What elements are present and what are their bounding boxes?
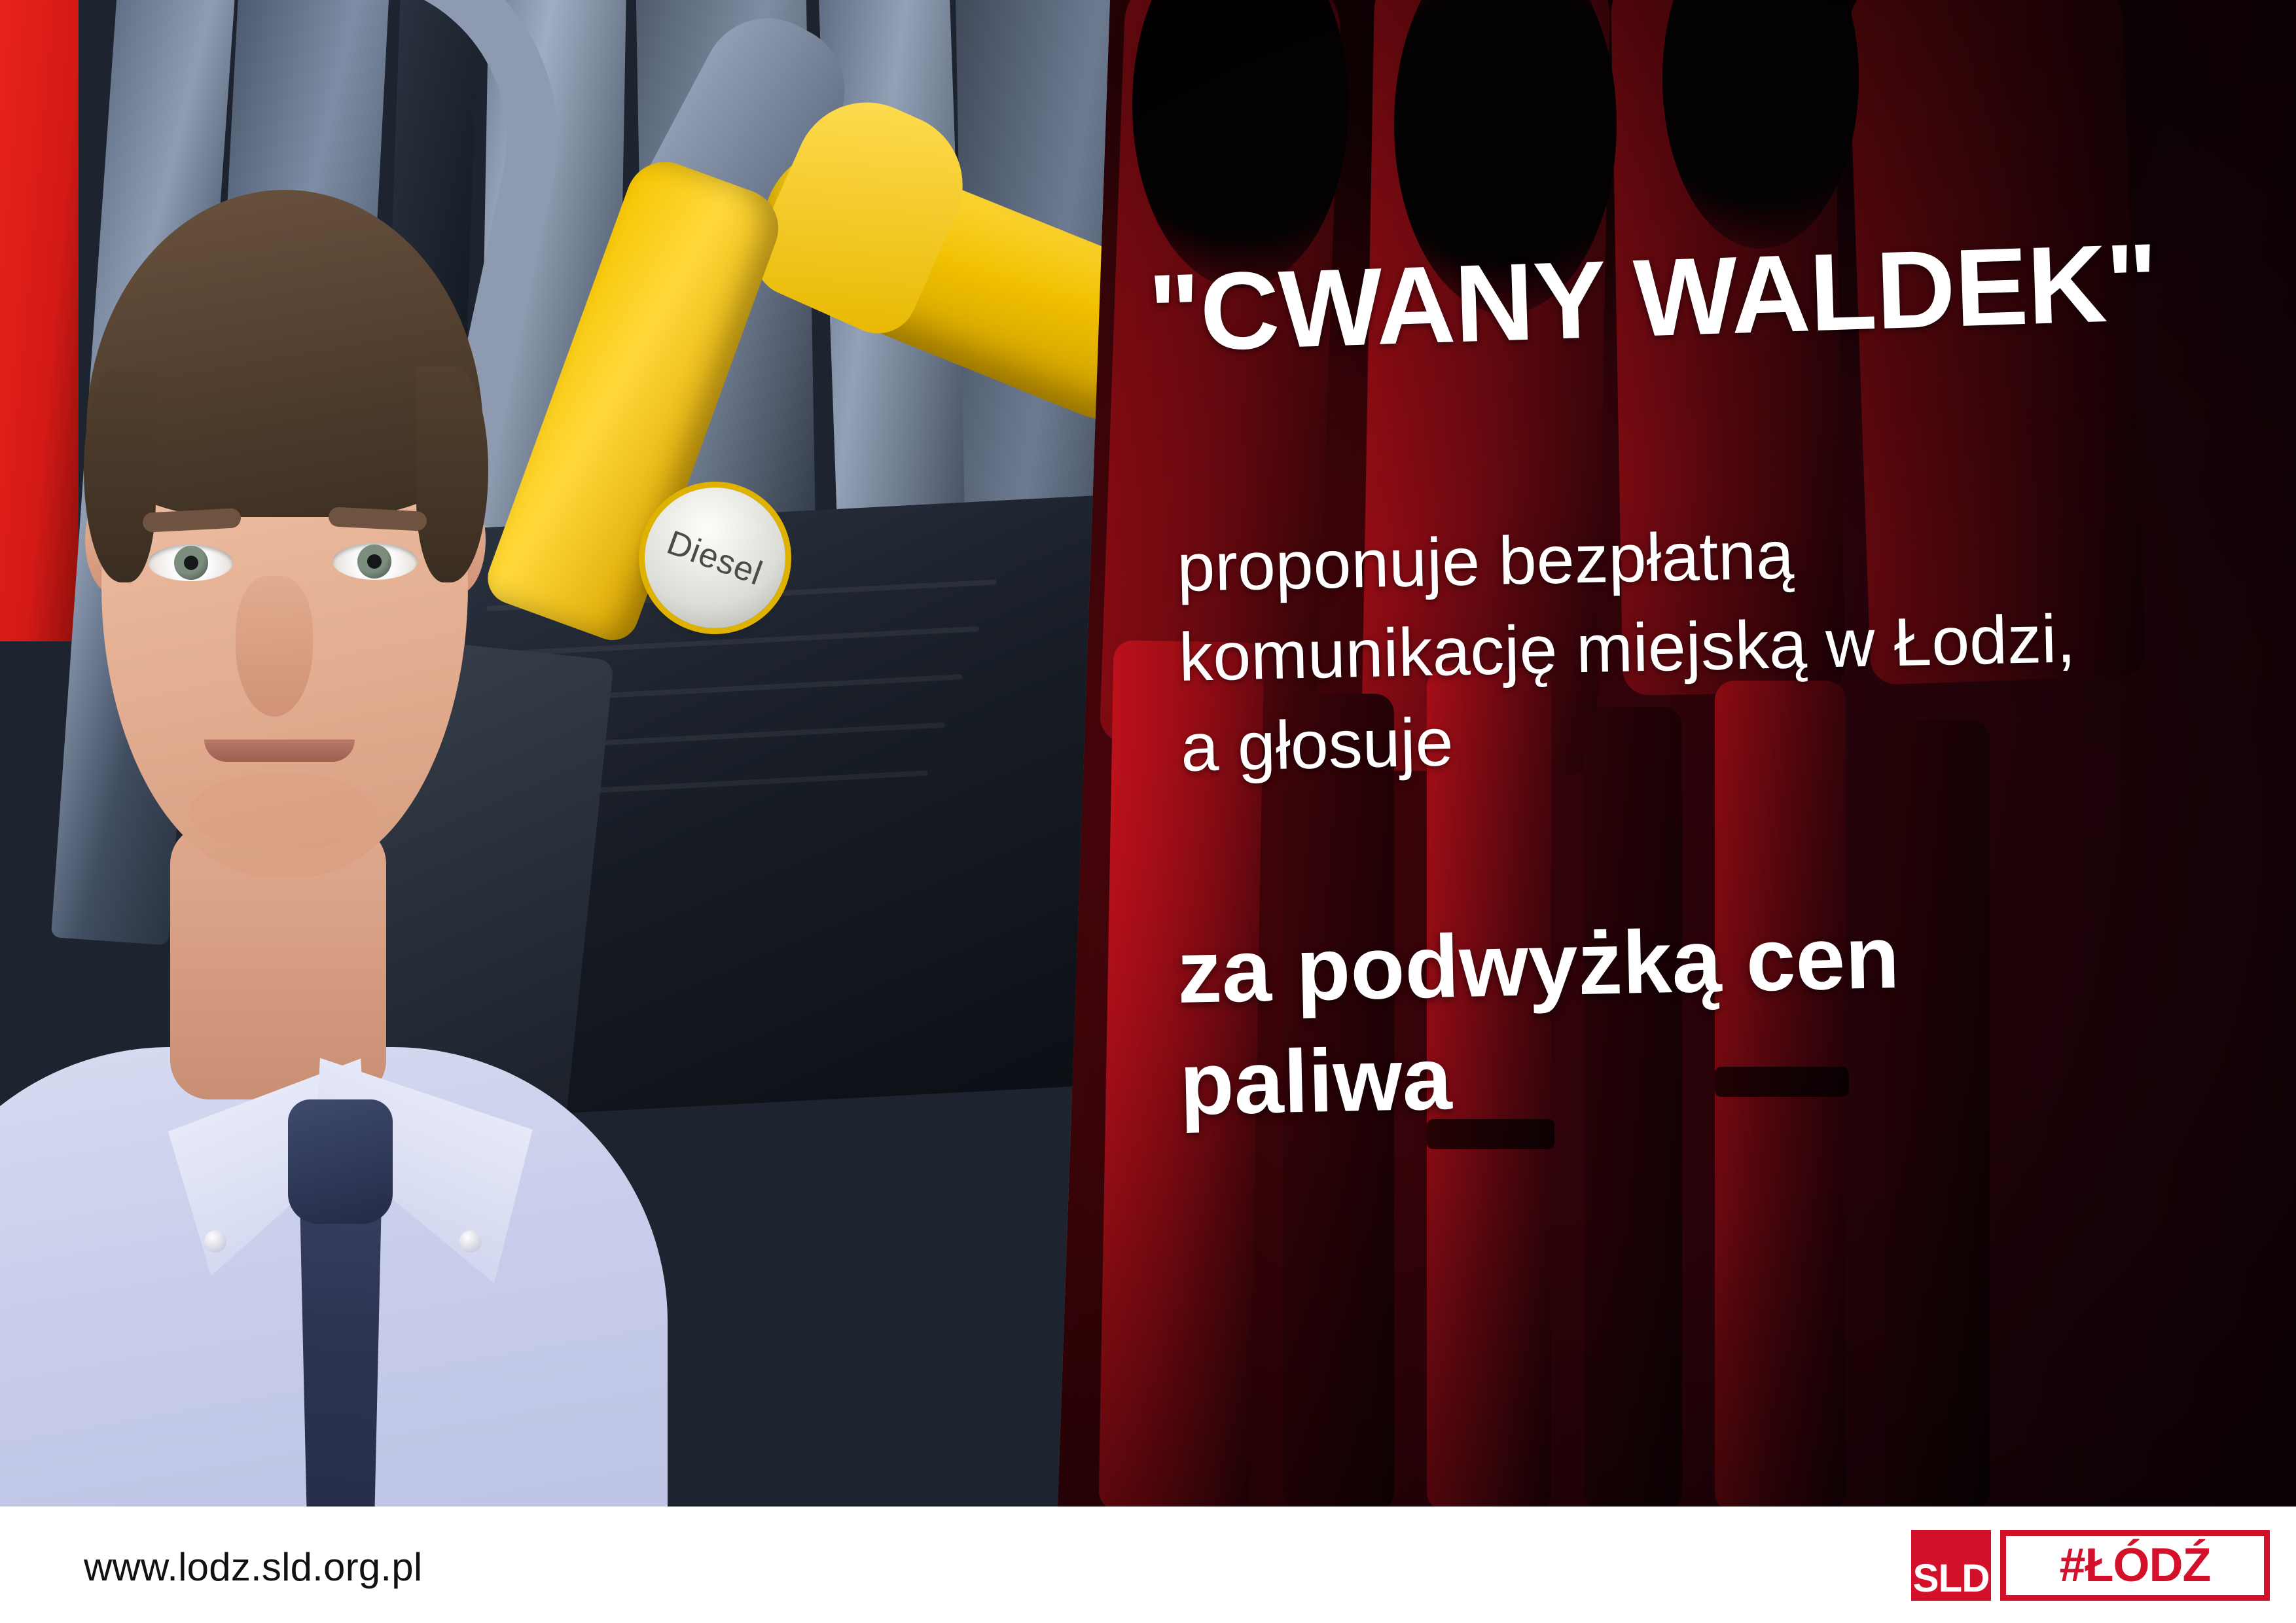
- diesel-label-text: Diesel: [662, 523, 768, 594]
- pupil-left: [184, 556, 198, 570]
- poster-footer: www.lodz.sld.org.pl SLD #ŁÓDŹ: [0, 1507, 2296, 1623]
- candidate-portrait: [0, 118, 628, 1507]
- sld-lodz-logo: SLD #ŁÓDŹ: [1911, 1530, 2270, 1601]
- pupil-right: [367, 554, 382, 569]
- website-url[interactable]: www.lodz.sld.org.pl: [84, 1544, 422, 1590]
- sld-logo-mark: SLD: [1911, 1530, 1991, 1601]
- poster-artwork: Diesel: [0, 0, 2296, 1507]
- fuel-pump-photo: Diesel: [0, 0, 1152, 1507]
- collar-button: [459, 1230, 482, 1253]
- lodz-hashtag-box: #ŁÓDŹ: [2000, 1530, 2270, 1601]
- lodz-hashtag-text: #ŁÓDŹ: [2059, 1542, 2210, 1589]
- campaign-poster: Diesel: [0, 0, 2296, 1623]
- sld-logo-text: SLD: [1913, 1559, 1990, 1598]
- necktie-knot: [288, 1099, 393, 1224]
- hair-side-left: [84, 366, 156, 582]
- nose: [236, 576, 313, 717]
- mouth: [204, 740, 355, 762]
- collar-button: [204, 1230, 226, 1253]
- chin: [190, 772, 373, 851]
